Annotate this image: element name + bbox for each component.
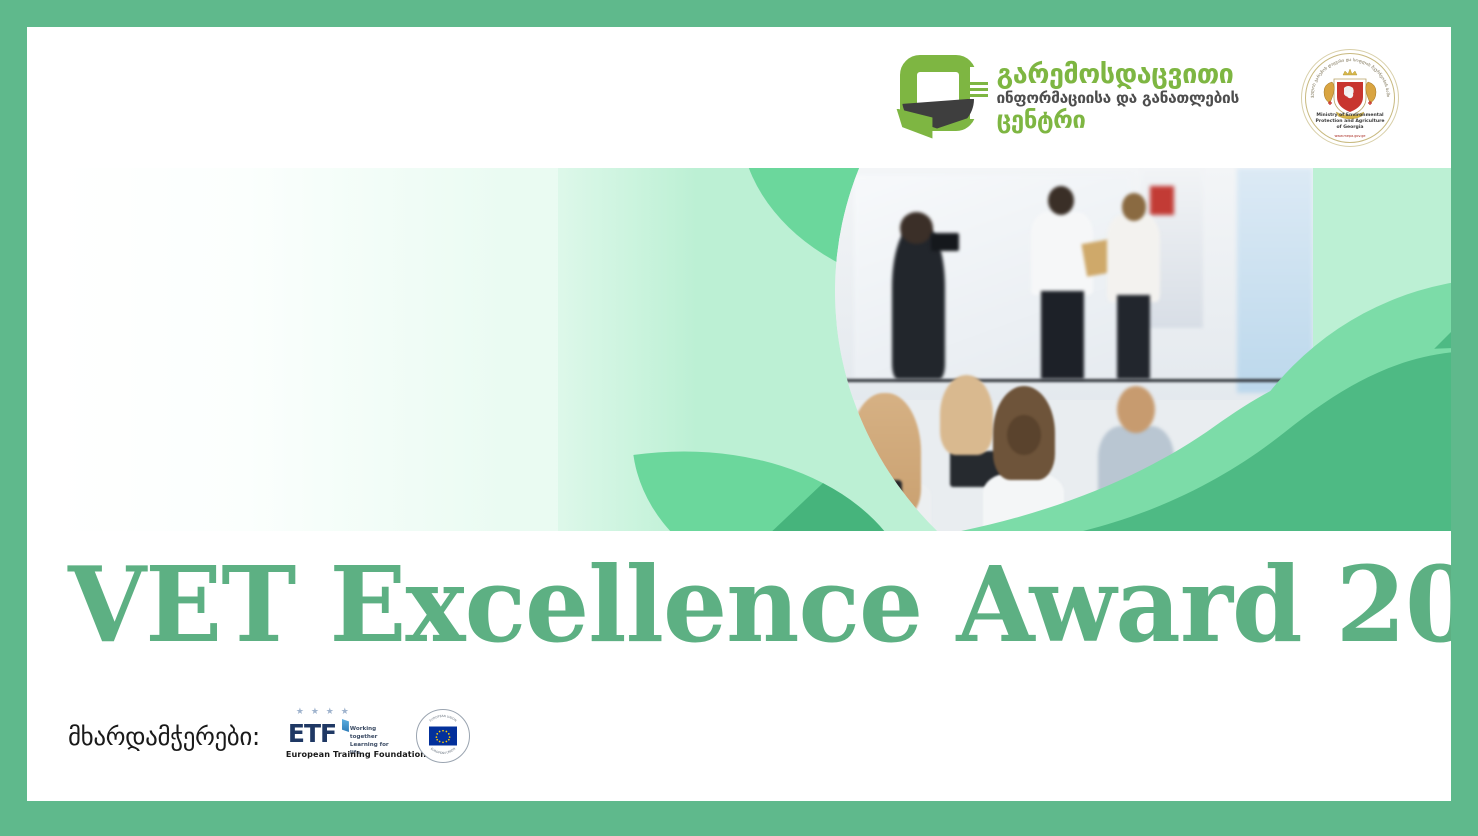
georgia-ministry-emblem-icon: საქართველოს გარემოს დაცვისა და სოფლის მე… (1301, 49, 1399, 147)
eiec-logo-text: გარემოსდაცვითი ინფორმაციისა და განათლები… (996, 61, 1239, 135)
eiec-logo: გარემოსდაცვითი ინფორმაციისა და განათლები… (896, 55, 1239, 141)
eiec-logo-line3: ცენტრი (996, 108, 1239, 132)
etf-acronym: ETF (288, 719, 336, 748)
eiec-logo-line1: გარემოსდაცვითი (996, 61, 1239, 88)
supporters-label: მხარდამჭერები: (68, 722, 260, 751)
hero-left-fade (55, 168, 697, 531)
ministry-subtitle-line3: of Georgia (1336, 125, 1363, 130)
hero-banner (55, 168, 1451, 531)
european-union-badge-icon: EUROPEAN UNION EUROPEAN UNION (416, 709, 470, 763)
ministry-subtitle-line1: Ministry of Environmental (1316, 113, 1383, 118)
eu-flag-icon (429, 727, 457, 746)
poster-canvas: გარემოსდაცვითი ინფორმაციისა და განათლები… (27, 27, 1451, 801)
svg-text:EUROPEAN UNION: EUROPEAN UNION (430, 747, 456, 755)
supporters-row: მხარდამჭერები: ★ ★ ★ ★ ETF Working toget… (68, 707, 470, 765)
eiec-leaf-book-logo-icon (896, 55, 988, 141)
poster-frame: გარემოსდაცვითი ინფორმაციისა და განათლები… (0, 0, 1478, 836)
etf-tagline-line1: Working together (350, 726, 378, 740)
ministry-subtitle-line2: Protection and Agriculture (1316, 119, 1385, 124)
logo-group: გარემოსდაცვითი ინფორმაციისა და განათლები… (896, 49, 1399, 147)
page-title: VET Excellence Award 2022 (68, 553, 1451, 657)
etf-full-name: European Training Foundation (286, 749, 426, 759)
svg-text:EUROPEAN UNION: EUROPEAN UNION (428, 714, 457, 723)
title-area: VET Excellence Award 2022 (27, 531, 1451, 706)
etf-logo-icon: ★ ★ ★ ★ ETF Working together Learning fo… (286, 707, 390, 765)
header-logo-bar: გარემოსდაცვითი ინფორმაციისა და განათლები… (27, 27, 1451, 168)
ministry-website: www.mepa.gov.ge (1302, 134, 1398, 138)
ministry-subtitle: Ministry of Environmental Protection and… (1302, 113, 1398, 132)
green-wave-shape-icon (815, 348, 1451, 531)
eiec-logo-line2: ინფორმაციისა და განათლების (996, 91, 1239, 107)
